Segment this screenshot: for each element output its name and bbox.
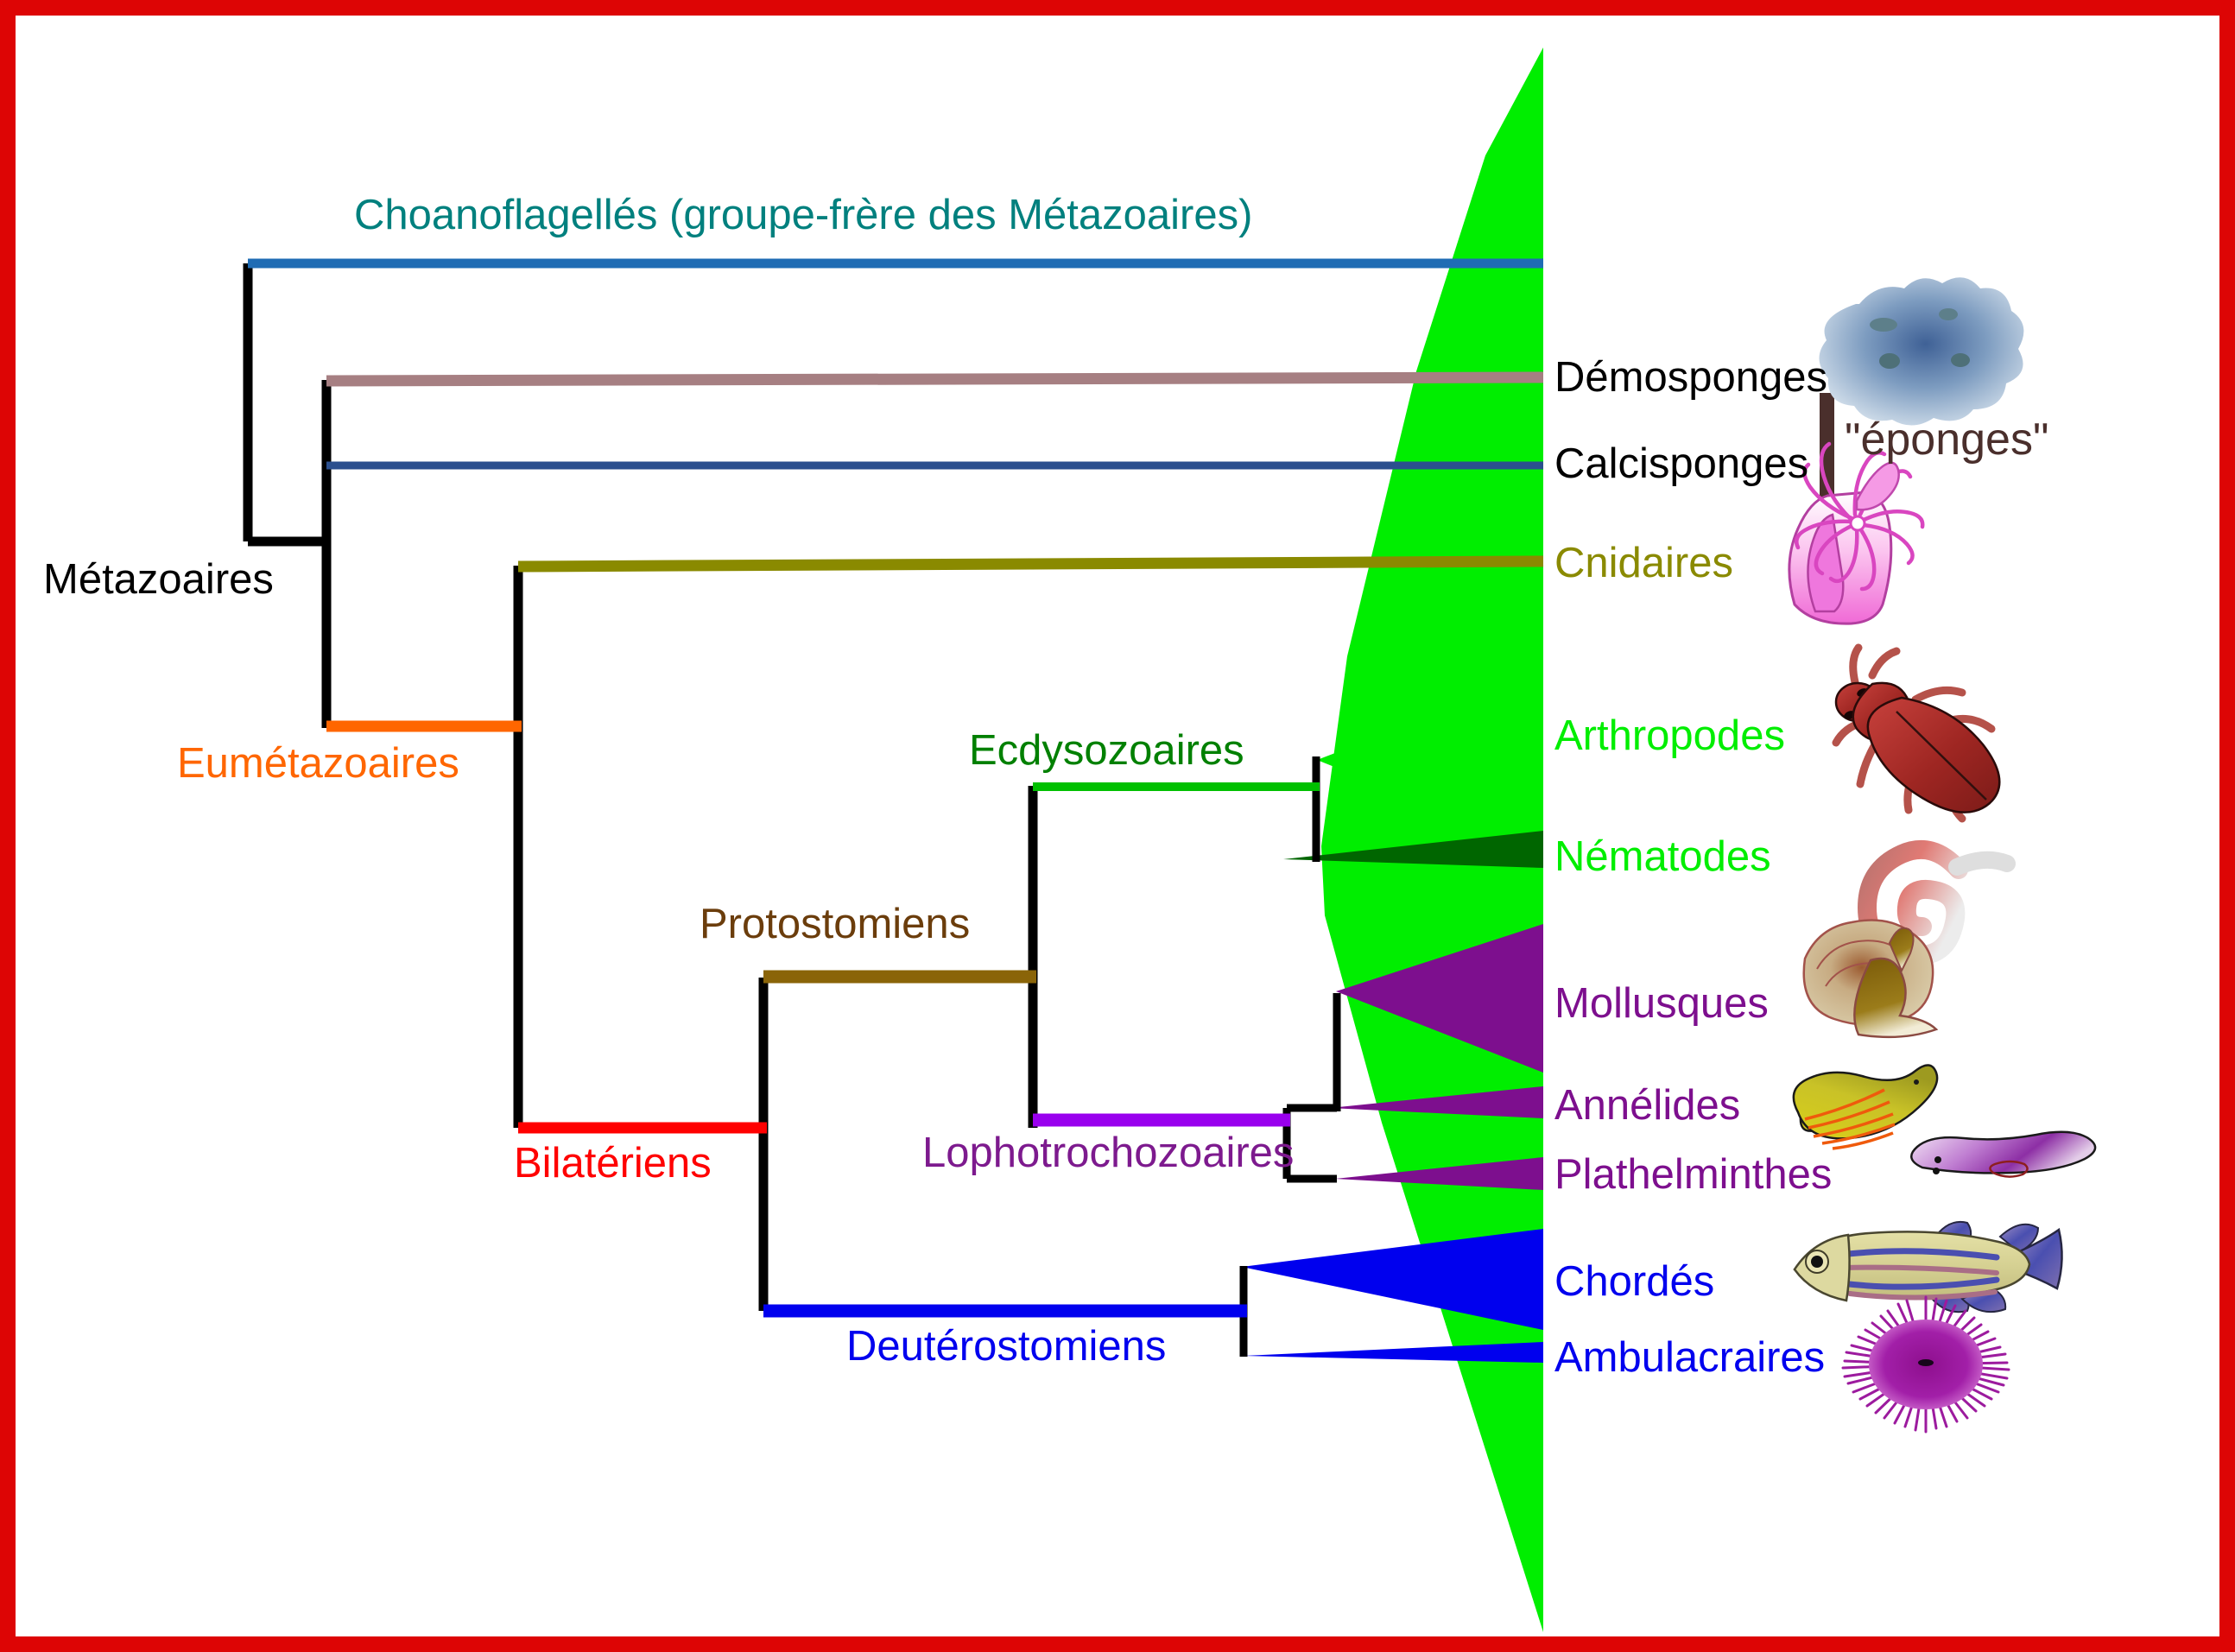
sponge-blob-icon	[1819, 277, 2023, 425]
taxon-label-nematodes: Nématodes	[1554, 836, 1771, 878]
tree-skeleton	[248, 263, 1337, 1357]
taxon-label-demosponges: Démosponges	[1554, 357, 1827, 399]
label-eumetazoaires: Eumétazoaires	[177, 743, 459, 785]
ambulacraires-triangle	[1244, 1342, 1543, 1363]
sea-urchin-icon	[1843, 1297, 2009, 1432]
branch-cnidaires	[518, 561, 1543, 566]
cladogram-canvas	[0, 0, 2235, 1652]
beetle-icon	[1836, 648, 1999, 819]
branch-demosponges	[326, 377, 1543, 381]
label-choanoflagelles: Choanoflagellés (groupe-frère des Métazo…	[354, 194, 1252, 237]
label-ecdysozoaires: Ecdysozoaires	[969, 730, 1244, 772]
flatworm-icon	[1911, 1132, 2095, 1177]
taxon-label-cnidaires: Cnidaires	[1554, 542, 1733, 585]
label-eponges-group: "éponges"	[1845, 417, 2048, 462]
label-deuterostomiens: Deutérostomiens	[846, 1326, 1166, 1368]
taxon-label-ambulacraires: Ambulacraires	[1554, 1337, 1825, 1379]
taxon-label-mollusques: Mollusques	[1554, 983, 1769, 1025]
taxon-label-arthropodes: Arthropodes	[1554, 715, 1785, 757]
phylogeny-figure: Choanoflagellés (groupe-frère des Métazo…	[0, 0, 2235, 1652]
zebrafish-icon	[1795, 1222, 2062, 1312]
label-protostomiens: Protostomiens	[700, 903, 970, 946]
taxon-label-annelides: Annélides	[1554, 1085, 1740, 1127]
label-metazoaires: Métazoaires	[43, 559, 274, 601]
taxon-label-calcisponges: Calcisponges	[1554, 443, 1808, 485]
chordes-triangle	[1242, 1229, 1543, 1330]
taxon-label-chordes: Chordés	[1554, 1261, 1714, 1303]
label-bilateriens: Bilatériens	[514, 1142, 712, 1185]
taxon-label-plathelminthes: Plathelminthes	[1554, 1154, 1832, 1196]
snail-icon	[1804, 921, 1936, 1037]
label-lophotrochozoaires: Lophotrochozoaires	[922, 1132, 1294, 1174]
polychaete-worm-icon	[1794, 1065, 1937, 1149]
sea-anemone-icon	[1789, 444, 1922, 623]
